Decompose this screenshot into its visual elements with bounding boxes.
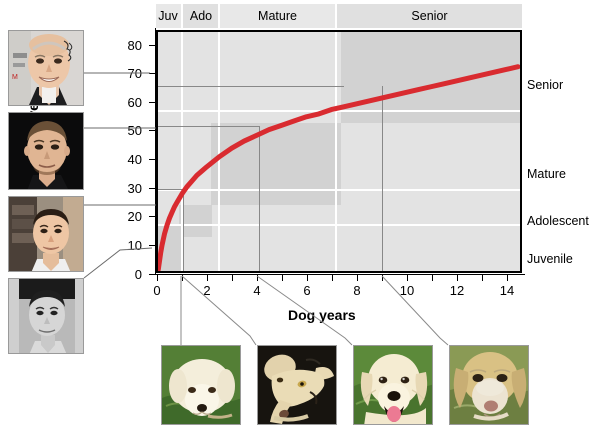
ytick-0 — [149, 274, 155, 275]
photo-dog-adult[interactable] — [353, 345, 433, 425]
xtick-6 — [307, 275, 308, 281]
photo-human-adolescent[interactable] — [8, 196, 84, 272]
right-label-adolescent: Adolescent — [527, 214, 589, 228]
photo-human-mature[interactable] — [8, 112, 84, 190]
photo-human-senior[interactable]: M — [8, 30, 84, 106]
xtick-11 — [432, 275, 433, 281]
ytick-30 — [149, 188, 155, 189]
xtick-label-2: 2 — [192, 283, 222, 298]
photo-human-juvenile[interactable] — [8, 278, 84, 354]
ytick-label-20: 20 — [110, 209, 142, 224]
ytick-label-0: 0 — [110, 267, 142, 282]
y-axis-line — [155, 28, 156, 275]
ytick-70 — [149, 73, 155, 74]
xtick-1 — [182, 275, 183, 281]
ytick-40 — [149, 159, 155, 160]
ytick-50 — [149, 130, 155, 131]
top-label-juv: Juv — [150, 5, 186, 27]
xtick-label-14: 14 — [492, 283, 522, 298]
ytick-label-60: 60 — [110, 95, 142, 110]
ytick-80 — [149, 45, 155, 46]
xtick-5 — [282, 275, 283, 281]
xtick-4 — [257, 275, 258, 281]
ytick-label-70: 70 — [110, 66, 142, 81]
ytick-20 — [149, 216, 155, 217]
human-age-curve — [157, 31, 522, 273]
svg-text:M: M — [12, 74, 18, 81]
figure-root: Juv Ado Mature Senior — [0, 0, 600, 431]
xtick-label-6: 6 — [292, 283, 322, 298]
photo-dog-old[interactable] — [449, 345, 529, 425]
xtick-7 — [332, 275, 333, 281]
ytick-label-80: 80 — [110, 38, 142, 53]
top-label-ado: Ado — [182, 5, 220, 27]
plot-area — [156, 30, 522, 273]
xtick-label-12: 12 — [442, 283, 472, 298]
ytick-60 — [149, 102, 155, 103]
xtick-10 — [407, 275, 408, 281]
ytick-label-10: 10 — [110, 238, 142, 253]
xtick-13 — [482, 275, 483, 281]
xtick-9 — [382, 275, 383, 281]
right-label-senior: Senior — [527, 78, 563, 92]
xtick-14 — [507, 275, 508, 281]
xtick-12 — [457, 275, 458, 281]
right-label-mature: Mature — [527, 167, 566, 181]
ytick-label-50: 50 — [110, 123, 142, 138]
ytick-label-40: 40 — [110, 152, 142, 167]
top-label-senior: Senior — [337, 5, 522, 27]
xtick-3 — [232, 275, 233, 281]
ytick-label-30: 30 — [110, 181, 142, 196]
top-label-mature: Mature — [220, 5, 335, 27]
xtick-8 — [357, 275, 358, 281]
xtick-2 — [207, 275, 208, 281]
right-label-juvenile: Juvenile — [527, 252, 573, 266]
photo-dog-young[interactable] — [257, 345, 337, 425]
x-axis-label: Dog years — [288, 307, 356, 323]
xtick-label-4: 4 — [242, 283, 272, 298]
xtick-label-8: 8 — [342, 283, 372, 298]
xtick-label-10: 10 — [392, 283, 422, 298]
ytick-10 — [149, 245, 155, 246]
xtick-label-0: 0 — [142, 283, 172, 298]
photo-dog-puppy[interactable] — [161, 345, 241, 425]
xtick-0 — [157, 275, 158, 281]
